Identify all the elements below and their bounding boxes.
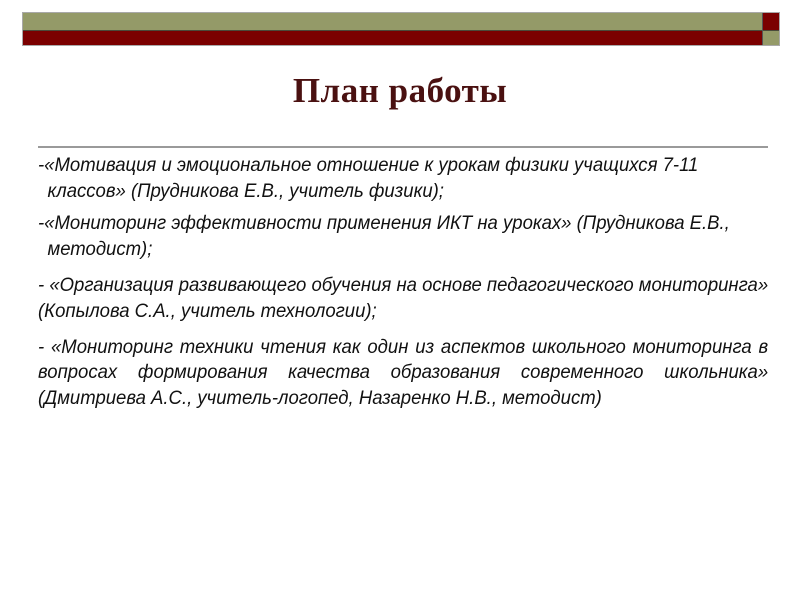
header-bar-accent-maroon-block xyxy=(763,13,779,31)
decorative-header-bar xyxy=(22,12,780,46)
header-bar-main-segment xyxy=(23,13,762,45)
content-list: -«Мотивация и эмоциональное отношение к … xyxy=(38,153,770,418)
list-item: - «Организация развивающего обучения на … xyxy=(38,273,768,325)
list-item: -«Мотивация и эмоциональное отношение к … xyxy=(38,153,778,205)
list-item: -«Мониторинг эффективности применения ИК… xyxy=(38,211,778,263)
title-divider-rule xyxy=(38,146,768,148)
header-bar-olive-block xyxy=(23,13,762,31)
header-bar-accent-olive-block xyxy=(763,31,779,45)
header-bar-accent-segment xyxy=(762,13,779,45)
list-item: - «Мониторинг техники чтения как один из… xyxy=(38,335,768,413)
header-bar-maroon-block xyxy=(23,31,762,45)
page-title: План работы xyxy=(0,72,800,111)
